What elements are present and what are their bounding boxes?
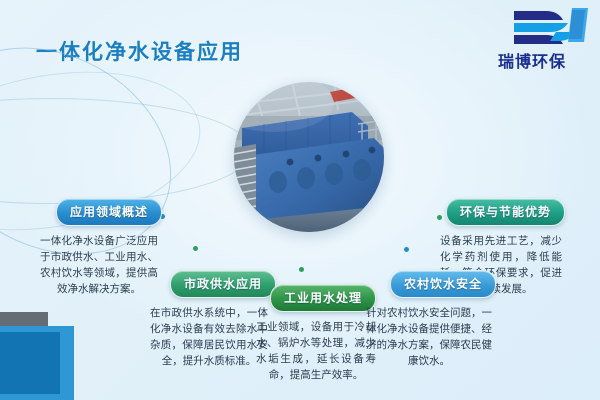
callout-rural-drinking-water-safety[interactable]: 农村饮水安全 针对农村饮水安全问题，一体化净水设备提供便捷、经济的净水方案，保障…: [366, 270, 492, 369]
decorative-corner-block: [0, 312, 80, 400]
brand-logo: 瑞博环保: [474, 6, 590, 78]
callout-industrial-water-treatment[interactable]: 工业用水处理 工业领域，设备用于冷却水、锅炉水等处理，减少水垢生成，延长设备寿命…: [256, 284, 376, 383]
equipment-photo: [234, 82, 384, 232]
callout-text-municipal-water-supply: 在市政供水系统中，一体化净水设备有效去除水中杂质，保障居民饮用水安全，提升水质标…: [150, 305, 268, 369]
ruibo-logo-mark-icon: [484, 8, 590, 50]
callout-text-application-overview: 一体化净水设备广泛应用于市政供水、工业用水、农村饮水等领域，提供高效净水解决方案…: [40, 233, 158, 297]
slide-canvas: 一体化净水设备应用 瑞博环保: [0, 0, 600, 400]
orbit-dot-5: [299, 267, 304, 272]
central-hub: [234, 82, 384, 232]
callout-label-industrial-water-treatment[interactable]: 工业用水处理: [270, 284, 376, 312]
callout-municipal-water-supply[interactable]: 市政供水应用 在市政供水系统中，一体化净水设备有效去除水中杂质，保障居民饮用水安…: [150, 270, 268, 369]
brand-name: 瑞博环保: [474, 48, 590, 72]
orbit-dot-2: [193, 246, 198, 251]
callout-label-application-overview[interactable]: 应用领域概述: [56, 198, 162, 226]
orbit-dot-4: [404, 247, 409, 252]
callout-label-environmental-energy-saving[interactable]: 环保与节能优势: [446, 198, 565, 226]
callout-label-rural-drinking-water-safety[interactable]: 农村饮水安全: [390, 270, 496, 298]
corner-square-inner: [0, 332, 60, 394]
callout-text-industrial-water-treatment: 工业领域，设备用于冷却水、锅炉水等处理，减少水垢生成，延长设备寿命，提高生产效率…: [256, 319, 376, 383]
callout-application-overview[interactable]: 应用领域概述 一体化净水设备广泛应用于市政供水、工业用水、农村饮水等领域，提供高…: [40, 198, 158, 297]
callout-text-rural-drinking-water-safety: 针对农村饮水安全问题，一体化净水设备提供便捷、经济的净水方案，保障农民健康饮水。: [366, 305, 492, 369]
